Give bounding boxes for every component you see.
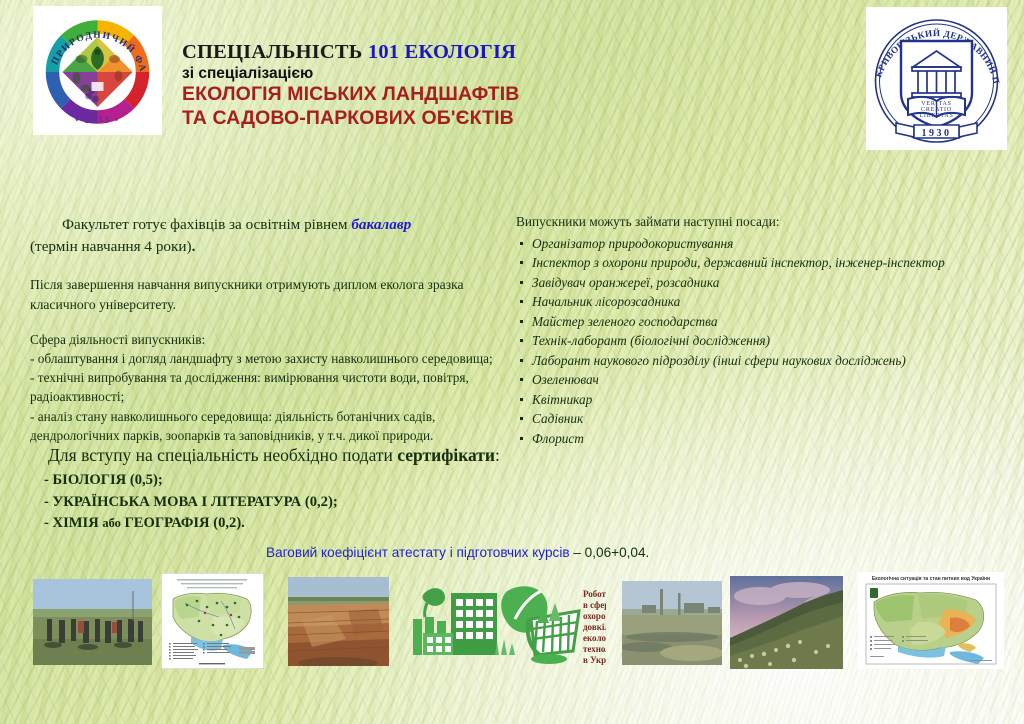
svg-text:охорони: охорони [583, 611, 606, 621]
map-nature-reserve-fund-ukraine [161, 573, 264, 669]
certificate-dash: - [44, 515, 49, 531]
map-ecological-situation: Екологічна ситуація та стан питних вод У… [858, 572, 1004, 669]
svg-text:технологій: технологій [583, 644, 606, 654]
degree-name: бакалавр [351, 216, 411, 233]
jobs-title: Випускники можуть займати наступні посад… [516, 213, 1011, 232]
certificate-conjunction: або [102, 516, 120, 530]
diploma-paragraph: Після завершення навчання випускники отр… [30, 275, 500, 314]
duration-text: (термін навчання 4 роки) [30, 238, 192, 255]
list-item: Завідувач оранжереї, розсадника [516, 273, 1011, 293]
certificate-item: - БІОЛОГІЯ (0,5); [30, 470, 650, 491]
certificate-text-pre: ХІМІЯ [53, 515, 99, 531]
photo-industrial-landscape [622, 581, 722, 665]
speciality-label: СПЕЦІАЛЬНІСТЬ [182, 41, 363, 63]
weight-coefficient-line: Ваговий коефіцієнт атестату і підготовчи… [266, 545, 649, 560]
certificate-item: - ХІМІЯ або ГЕОГРАФІЯ (0,2). [30, 513, 650, 534]
svg-text:екологічних: екологічних [583, 633, 606, 643]
eco-caption-line: Робота [583, 589, 606, 599]
list-item: Організатор природокористування [516, 234, 1011, 254]
list-item: Інспектор з охорони природи, державний і… [516, 253, 1011, 273]
scope-title: Сфера діяльності випускників: [30, 330, 500, 349]
degree-lead: Факультет готує фахівців за освітнім рів… [30, 213, 500, 237]
jobs-list: Організатор природокористування Інспекто… [516, 234, 1011, 449]
certificate-dash: - [44, 494, 49, 510]
list-item: Садівник [516, 409, 1011, 429]
list-item: Озеленювач [516, 370, 1011, 390]
certificate-text: БІОЛОГІЯ (0,5); [53, 472, 163, 488]
specialization-title-1: ЕКОЛОГІЯ МІСЬКИХ ЛАНДШАФТІВ [182, 83, 782, 106]
poster-root: ПРИРОДНИЧИЙ ФАКУЛЬТЕТ • 1933 • КРИВОРІЗЬ… [0, 0, 1024, 724]
photo-mountain-slope [730, 576, 843, 669]
photo-field-excursion [33, 579, 152, 665]
scope-item: - технічні випробування та дослідження: … [30, 368, 500, 406]
scope-item: - облаштування і догляд ландшафту з мето… [30, 349, 500, 368]
illustration-eco-work: Робота в сфері охорони довкілля та еколо… [403, 575, 606, 667]
svg-text:довкілля та: довкілля та [583, 622, 606, 632]
poster-heading: СПЕЦІАЛЬНІСТЬ 101 ЕКОЛОГІЯ зі спеціаліза… [182, 41, 782, 130]
list-item: Начальник лісорозсадника [516, 292, 1011, 312]
duration-period: . [192, 238, 196, 255]
weight-coefficient-label: Ваговий коефіцієнт атестату і підготовчи… [266, 545, 570, 560]
list-item: Майстер зеленого господарства [516, 312, 1011, 332]
map-caption: Екологічна ситуація та стан питних вод У… [872, 576, 990, 582]
speciality-line: СПЕЦІАЛЬНІСТЬ 101 ЕКОЛОГІЯ [182, 41, 782, 64]
specialization-title-2: ТА САДОВО-ПАРКОВИХ ОБ'ЄКТІВ [182, 107, 782, 130]
certificates-title-text: Для вступу на спеціальність необхідно по… [48, 445, 397, 465]
duration-line: (термін навчання 4 роки). [30, 236, 500, 259]
certificates-colon: : [495, 445, 500, 465]
certificate-dash: - [44, 472, 49, 488]
svg-text:в Україні: в Україні [583, 655, 606, 665]
weight-coefficient-value: – 0,06+0,04. [570, 545, 650, 560]
certificate-text: УКРАЇНСЬКА МОВА І ЛІТЕРАТУРА (0,2); [53, 494, 338, 510]
photo-quarry [288, 577, 389, 666]
svg-text:1930: 1930 [922, 128, 952, 139]
certificates-keyword: сертифікати [397, 445, 495, 465]
certificates-list: - БІОЛОГІЯ (0,5); - УКРАЇНСЬКА МОВА І ЛІ… [30, 470, 650, 533]
left-text-column: Факультет готує фахівців за освітнім рів… [30, 213, 500, 445]
list-item: Лаборант наукового підрозділу (інші сфер… [516, 351, 1011, 371]
certificates-block: Для вступу на спеціальність необхідно по… [30, 443, 650, 534]
speciality-code: 101 ЕКОЛОГІЯ [368, 41, 516, 63]
university-emblem-logo: КРИВОРІЗЬКИЙ ДЕРЖАВНИЙ ПЕДАГОГІЧНИЙ УНІВ… [866, 7, 1007, 150]
certificate-text-post: ГЕОГРАФІЯ (0,2). [125, 515, 245, 531]
faculty-emblem-logo: ПРИРОДНИЧИЙ ФАКУЛЬТЕТ • 1933 • [33, 6, 162, 135]
right-text-column: Випускники можуть займати наступні посад… [516, 213, 1011, 448]
scope-block: Сфера діяльності випускників: - облаштув… [30, 330, 500, 445]
photo-strip: Робота в сфері охорони довкілля та еколо… [0, 570, 1024, 670]
list-item: Технік-лаборант (біологічні дослідження) [516, 331, 1011, 351]
list-item: Квітникар [516, 390, 1011, 410]
certificates-title: Для вступу на спеціальність необхідно по… [30, 443, 650, 468]
svg-text:• 1933 •: • 1933 • [75, 115, 120, 126]
certificate-item: - УКРАЇНСЬКА МОВА І ЛІТЕРАТУРА (0,2); [30, 492, 650, 513]
degree-lead-text: Факультет готує фахівців за освітнім рів… [62, 216, 351, 233]
scope-item: - аналіз стану навколишнього середовища:… [30, 407, 500, 445]
svg-text:в сфері: в сфері [583, 600, 606, 610]
specialization-label: зі спеціалізацією [182, 65, 782, 82]
svg-text:LIBERTAS: LIBERTAS [919, 113, 953, 119]
